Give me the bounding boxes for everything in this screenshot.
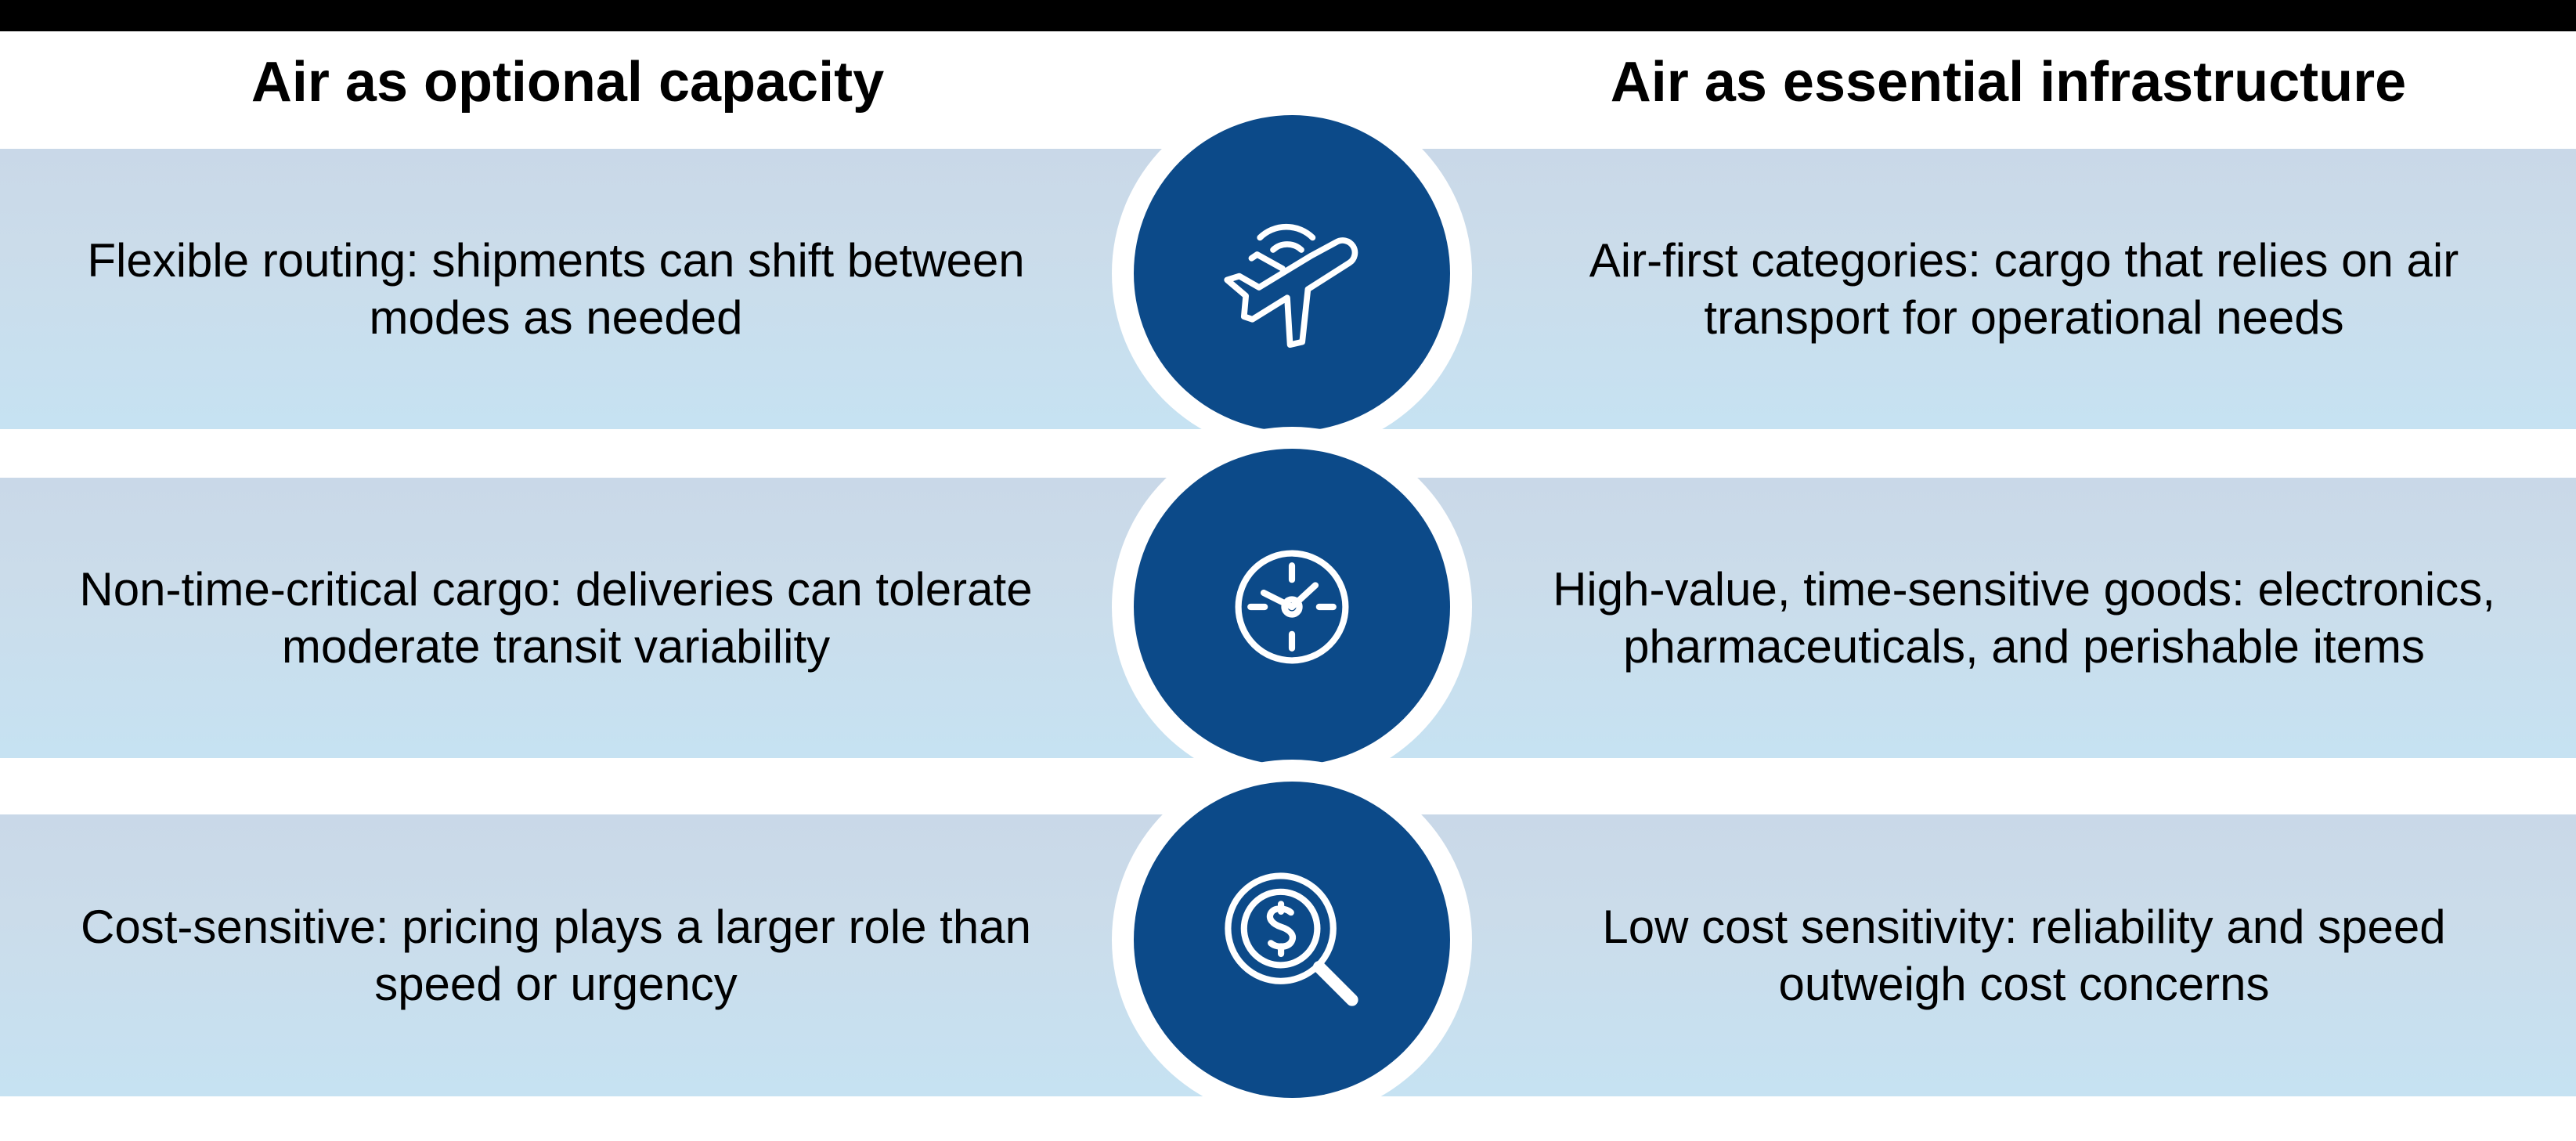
row-1-right-text: Air-first categories: cargo that relies … [1488,149,2560,429]
icon-badge-2 [1112,427,1472,787]
row-3-left-text: Cost-sensitive: pricing plays a larger r… [16,814,1096,1096]
airplane-signal-icon [1134,115,1450,431]
dollar-magnifier-icon [1134,782,1450,1098]
row-1-left-text: Flexible routing: shipments can shift be… [16,149,1096,429]
clock-glyph [1198,513,1386,701]
row-3-right-text: Low cost sensitivity: reliability and sp… [1488,814,2560,1096]
top-black-bar [0,0,2576,31]
column-header-left: Air as optional capacity [0,47,1135,117]
clock-icon [1134,449,1450,765]
column-header-right: Air as essential infrastructure [1441,47,2576,117]
row-2-left-text: Non-time-critical cargo: deliveries can … [16,478,1096,758]
comparison-slide: Air as optional capacity Air as essentia… [0,0,2576,1141]
row-2-right-text: High-value, time-sensitive goods: electr… [1488,478,2560,758]
dollar-magnifier-glyph [1198,846,1386,1034]
icon-badge-1 [1112,93,1472,453]
airplane-signal-glyph [1198,179,1386,367]
icon-badge-3 [1112,760,1472,1120]
